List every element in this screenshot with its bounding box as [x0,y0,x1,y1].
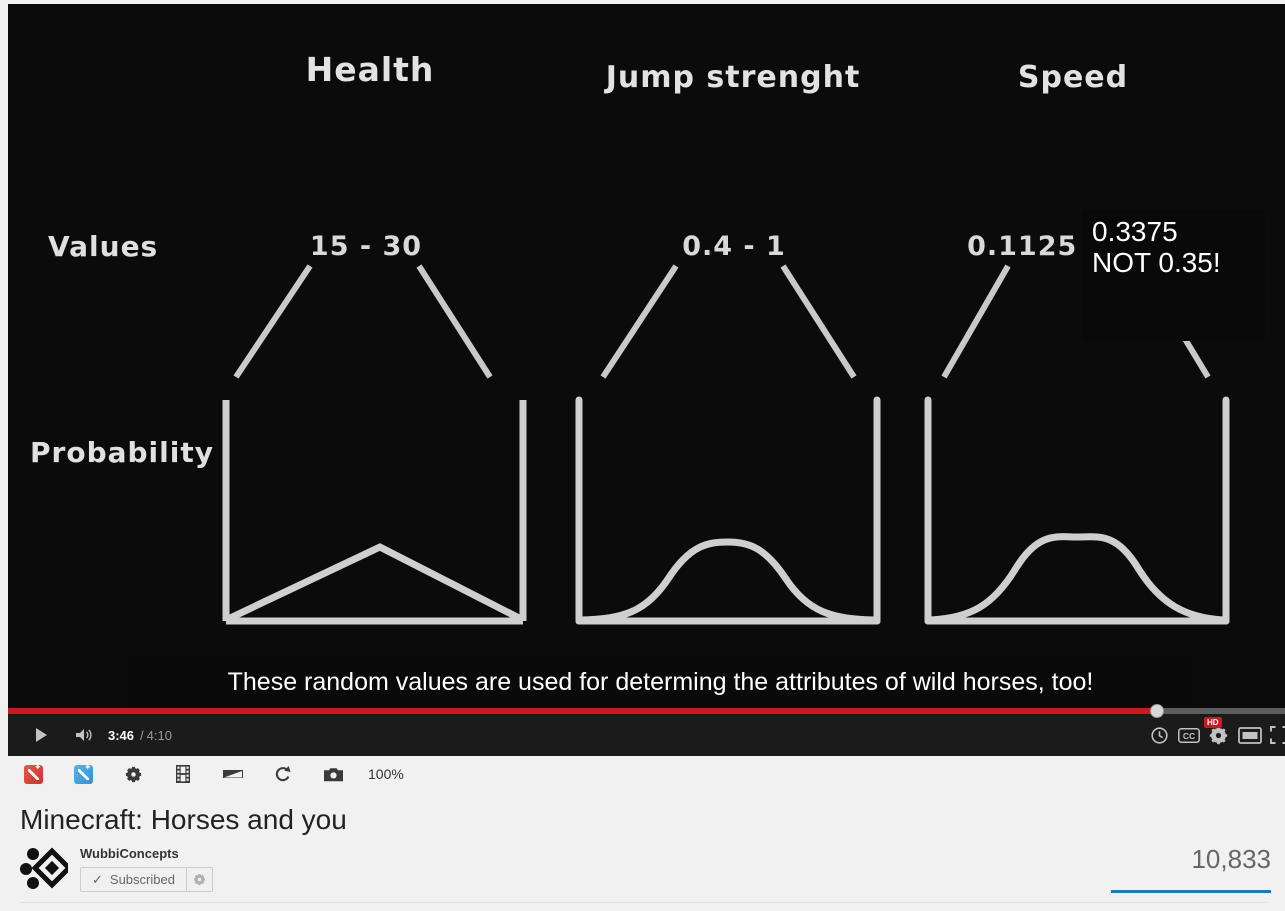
widescreen-glyph [222,767,244,781]
check-icon: ✓ [92,872,103,888]
chart-jump-curve [581,542,874,620]
chart-health [226,400,523,621]
theater-mode-icon [1238,727,1262,744]
pointer-line-speed-left [944,266,1008,377]
column-header-speed: Speed [1018,60,1128,95]
volume-icon [75,727,95,743]
time-display: 3:46 / 4:10 [108,714,172,756]
player-controls[interactable]: 3:46 / 4:10 CC [8,708,1285,756]
video-frame[interactable]: Health Jump strenght Speed Values Probab… [8,4,1285,756]
value-jump-strength: 0.4 - 1 [682,231,786,262]
closed-captions-icon: CC [1178,728,1200,743]
view-count: 10,833 [1191,844,1271,875]
video-caption: These random values are used for determi… [128,654,1193,710]
film-strip-glyph [176,765,190,783]
snapshot-camera-icon[interactable] [308,756,358,792]
value-health: 15 - 30 [310,231,422,262]
row-label-probability: Probability [30,436,214,469]
page-title: Minecraft: Horses and you [20,804,347,836]
chart-jump [579,400,877,621]
like-dislike-bar [1111,890,1271,893]
channel-info: WubbiConcepts ✓ Subscribed [80,844,213,892]
play-icon [33,727,49,743]
annotation-text: 0.3375 NOT 0.35! [1092,216,1221,278]
subscribed-label: Subscribed [110,872,175,887]
channel-name[interactable]: WubbiConcepts [80,846,213,861]
subscribed-button[interactable]: ✓ Subscribed [80,867,213,892]
loop-glyph [275,765,291,783]
fullscreen-icon [1270,726,1285,744]
channel-logo-icon [20,844,68,892]
youtube-watch-page: Health Jump strenght Speed Values Probab… [0,0,1285,911]
magic-wand-blue-icon[interactable] [58,756,108,792]
chart-health-curve [228,547,521,619]
film-strip-icon[interactable] [158,756,208,792]
svg-text:CC: CC [1183,731,1195,741]
gear-icon [193,873,206,886]
watch-later-icon [1151,727,1168,744]
gear-glyph [125,766,142,783]
subscription-settings-button[interactable] [186,868,212,891]
time-separator: / [140,728,144,743]
camera-glyph [324,767,343,782]
video-player[interactable]: Health Jump strenght Speed Values Probab… [8,4,1285,756]
channel-row: WubbiConcepts ✓ Subscribed [20,844,213,892]
fullscreen-button[interactable] [1262,714,1285,756]
meta-divider [20,902,1267,903]
avatar[interactable] [20,844,68,892]
total-time: 4:10 [147,728,172,743]
extension-toolbar[interactable]: 100% [8,756,1285,792]
column-header-health: Health [306,50,435,89]
loop-icon[interactable] [258,756,308,792]
pointer-line-health-left [236,266,310,377]
pointer-line-jump-right [783,266,854,377]
current-time: 3:46 [108,728,134,743]
column-header-jump-strength: Jump strenght [606,60,861,95]
gear-icon[interactable] [108,756,158,792]
magic-wand-red-icon[interactable] [8,756,58,792]
settings-gear-icon [1209,726,1228,745]
chart-speed-curve [930,537,1224,620]
widescreen-icon[interactable] [208,756,258,792]
slide-graphics [8,4,1285,756]
pointer-line-jump-left [603,266,676,377]
controls-row: 3:46 / 4:10 CC [8,714,1285,756]
subscribed-label-wrap[interactable]: ✓ Subscribed [81,868,186,891]
hd-badge: HD [1204,717,1222,728]
row-label-values: Values [48,230,158,263]
play-button[interactable] [22,714,60,756]
zoom-level-label[interactable]: 100% [368,766,404,782]
pointer-line-health-right [419,266,490,377]
chart-speed [928,400,1226,621]
volume-button[interactable] [66,714,104,756]
